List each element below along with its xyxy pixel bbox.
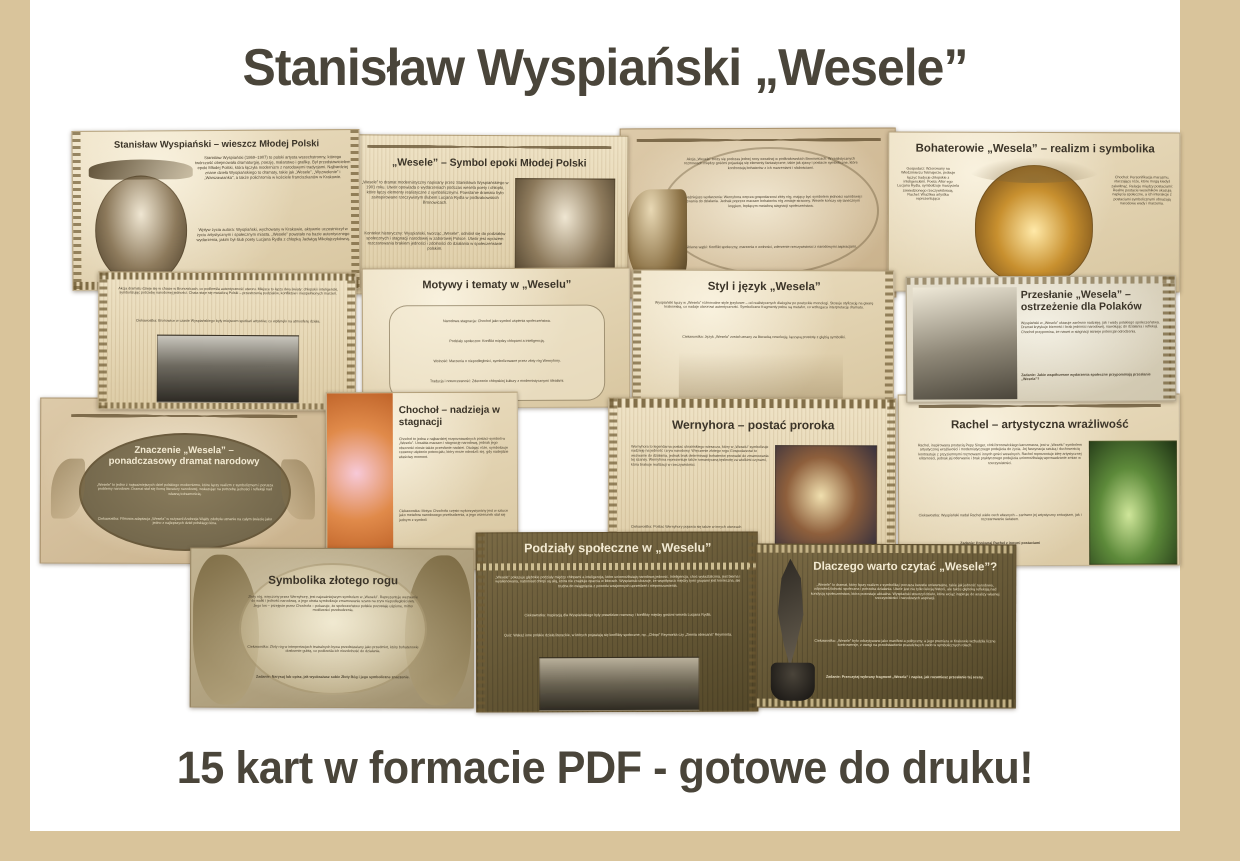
card-body-2: Ciekawostka: Postać Wernyhory pojawia si… xyxy=(631,525,769,530)
card-body-2: Najważniejsze wydarzenia: Wernyhora wręc… xyxy=(679,195,863,209)
card-title: „Wesele” – Symbol epoki Młodej Polski xyxy=(359,157,619,170)
card-body-2: Ciekawostka: Motyw Chochoła często wykor… xyxy=(399,509,511,523)
card-body-2: Ciekawostka: Złoty róg w interpretacjach… xyxy=(247,645,419,654)
card-znaczenie-wesela[interactable]: Znaczenie „Wesela” – ponadczasowy dramat… xyxy=(40,398,327,565)
motyw-item-3: Wolność: Marzenia o niepodległości, symb… xyxy=(397,359,597,364)
card-body: Wyspiański łączy w „Weselu” różnorodne s… xyxy=(653,301,875,311)
card-symbolika-zlotego-rogu[interactable]: Symbolika złotego rogu Złoty róg, wręczo… xyxy=(190,548,475,709)
card-title: Znaczenie „Wesela” – ponadczasowy dramat… xyxy=(101,445,267,468)
top-ornament xyxy=(757,545,1015,554)
card-column-right: Chochoł: Personifikacja marazmu, otaczaj… xyxy=(1111,175,1173,205)
footer-caption: 15 kart w formacie PDF - gotowe do druku… xyxy=(53,742,1157,794)
scroll-ornament xyxy=(367,141,611,152)
card-bohaterowie-wesela[interactable]: Bohaterowie „Wesela” – realizm i symboli… xyxy=(888,131,1181,292)
card-body-2: Ciekawostka: Wyspiański nadał Rachel wie… xyxy=(915,513,1085,522)
chlopi-foto-image xyxy=(539,657,699,712)
card-title: Styl i język „Wesela” xyxy=(647,281,881,295)
card-title: Stanisław Wyspiański – wieszcz Młodej Po… xyxy=(85,138,349,151)
card-title: Bohaterowie „Wesela” – realizm i symboli… xyxy=(899,143,1171,157)
scroll-ornament xyxy=(71,411,297,422)
card-column-left: Gospodarz: Wzorowany na Włodzimierzu Tet… xyxy=(897,167,959,202)
top-ornament xyxy=(907,276,1175,284)
card-body-2: Kontekst historyczny: Wyspiański, tworzą… xyxy=(361,230,509,251)
poster-root: Stanisław Wyspiański „Wesele” Stanisław … xyxy=(0,0,1240,861)
card-body-2: Ciekawostka: Filmowa adaptacja „Wesela” … xyxy=(95,517,275,526)
card-title: Wernyhora – postać proroka xyxy=(627,419,879,434)
card-body: Wyspiański w „Weselu” ukazuje zarówno na… xyxy=(1021,320,1163,334)
kwiaty-image xyxy=(327,393,394,570)
card-dlaczego-warto-czytac[interactable]: Dlaczego warto czytać „Wesele”? „Wesele”… xyxy=(756,544,1017,709)
card-body-3: Zadanie: Przeczytaj wybrany fragment „We… xyxy=(809,675,1001,680)
card-title: Dlaczego warto czytać „Wesele”? xyxy=(807,561,1003,575)
inkpot-icon xyxy=(771,663,815,701)
portret-wyspianskiego-image xyxy=(95,175,188,286)
card-body-3: Zadanie: Narysuj lub opisz, jak wyobraża… xyxy=(247,675,419,680)
chochol-rysunek-image xyxy=(913,287,1018,400)
card-body: „Wesele” to jedno z najważniejszych dzie… xyxy=(95,483,275,497)
card-body: Wernyhora to legendarna postać ukraiński… xyxy=(631,445,769,467)
card-title: Podziały społeczne w „Weselu” xyxy=(491,541,745,556)
chata-bronowicka-image xyxy=(157,335,299,404)
card-wyspianski-wieszcz[interactable]: Stanisław Wyspiański – wieszcz Młodej Po… xyxy=(71,129,360,291)
card-body: Stanisław Wyspiański (1869–1907) to pols… xyxy=(195,154,351,180)
leaf-ornament-icon xyxy=(967,157,1101,183)
leaf-ornament-icon xyxy=(89,159,193,180)
card-body-3: Główne wątki: Konflikt społeczny, marzen… xyxy=(679,245,863,250)
card-title: Symbolika złotego rogu xyxy=(249,575,417,589)
card-styl-i-jezyk[interactable]: Styl i język „Wesela” Wyspiański łączy w… xyxy=(632,270,894,413)
card-title: Rachel – artystyczna wrażliwość xyxy=(915,419,1165,433)
las-postac-image xyxy=(1089,441,1177,565)
bottom-ornament xyxy=(99,402,355,409)
card-title: Przesłanie „Wesela” – ostrzeżenie dla Po… xyxy=(1021,288,1171,313)
card-body: „Wesele” to dramat modernistyczny napisa… xyxy=(361,179,509,205)
card-body-2: Ciekawostka: Inspiracją dla Wyspiańskieg… xyxy=(495,613,741,618)
divider-ornament xyxy=(477,563,757,571)
card-collage: Stanisław Wyspiański – wieszcz Młodej Po… xyxy=(30,120,1180,720)
card-body: „Wesele” pokazuje głębokie podziały międ… xyxy=(495,575,741,589)
card-body-2: Ciekawostka: Język „Wesela” został uznan… xyxy=(653,335,875,340)
card-body-2: Wpływ życia autora: Wyspiański, wychowan… xyxy=(195,226,351,242)
quill-icon xyxy=(769,559,813,667)
card-przeslanie-wesela[interactable]: Przesłanie „Wesela” – ostrzeżenie dla Po… xyxy=(906,275,1177,402)
card-body: „Wesele” to dramat, który łączy realizm … xyxy=(809,583,1001,601)
card-body: Akcja „Wesela” toczy się podczas jednej … xyxy=(679,157,863,171)
motyw-item-1: Narodowa stagnacja: Chochoł jako symbol … xyxy=(397,319,597,324)
card-podzialy-spoleczne[interactable]: Podziały społeczne w „Weselu” „Wesele” p… xyxy=(476,532,759,713)
motyw-item-2: Podziały społeczne: Konflikt między chło… xyxy=(397,339,597,344)
card-body: Złoty róg, wręczony przez Wernyhorę, jes… xyxy=(247,595,419,613)
card-body-2: Ciekawostka: Bronowice w czasie Wyspiańs… xyxy=(115,318,341,324)
wernyhora-obraz-image xyxy=(775,445,877,557)
leaf-ornament-icon-right xyxy=(281,459,315,519)
card-title: Chochoł – nadzieja w stagnacji xyxy=(399,405,511,428)
card-body-3: Quiz: Wskaż inne polskie dzieła literack… xyxy=(495,633,741,638)
card-body-2: Ciekawostka: „Wesele” było odczytywane j… xyxy=(809,639,1001,648)
card-body: Akcja dramatu dzieje się w chacie w Bron… xyxy=(115,286,341,296)
card-body-2: Zadanie: Jakie współczesne wydarzenia sp… xyxy=(1021,372,1163,381)
card-bronowice-chata[interactable]: Akcja dramatu dzieje się w chacie w Bron… xyxy=(98,271,357,410)
card-body: Rachel, inspirowana postacią Pepy Singer… xyxy=(915,443,1085,465)
card-body: Chochoł to jedna z najbardziej rozpoznaw… xyxy=(399,437,511,459)
scroll-ornament xyxy=(637,135,881,146)
card-title: Motywy i tematy w „Weselu” xyxy=(373,279,621,293)
top-ornament xyxy=(609,399,895,409)
card-motywy-i-tematy[interactable]: Motywy i tematy w „Weselu” Narodowa stag… xyxy=(362,268,630,409)
page-title: Stanisław Wyspiański „Wesele” xyxy=(53,38,1157,98)
leaf-ornament-icon xyxy=(51,459,85,519)
top-ornament xyxy=(99,272,355,280)
card-rachel-wrazliwosc[interactable]: Rachel – artystyczna wrażliwość Rachel, … xyxy=(898,394,1181,567)
motyw-item-4: Tradycja i nowoczesność: Zderzenie chłop… xyxy=(397,379,597,384)
